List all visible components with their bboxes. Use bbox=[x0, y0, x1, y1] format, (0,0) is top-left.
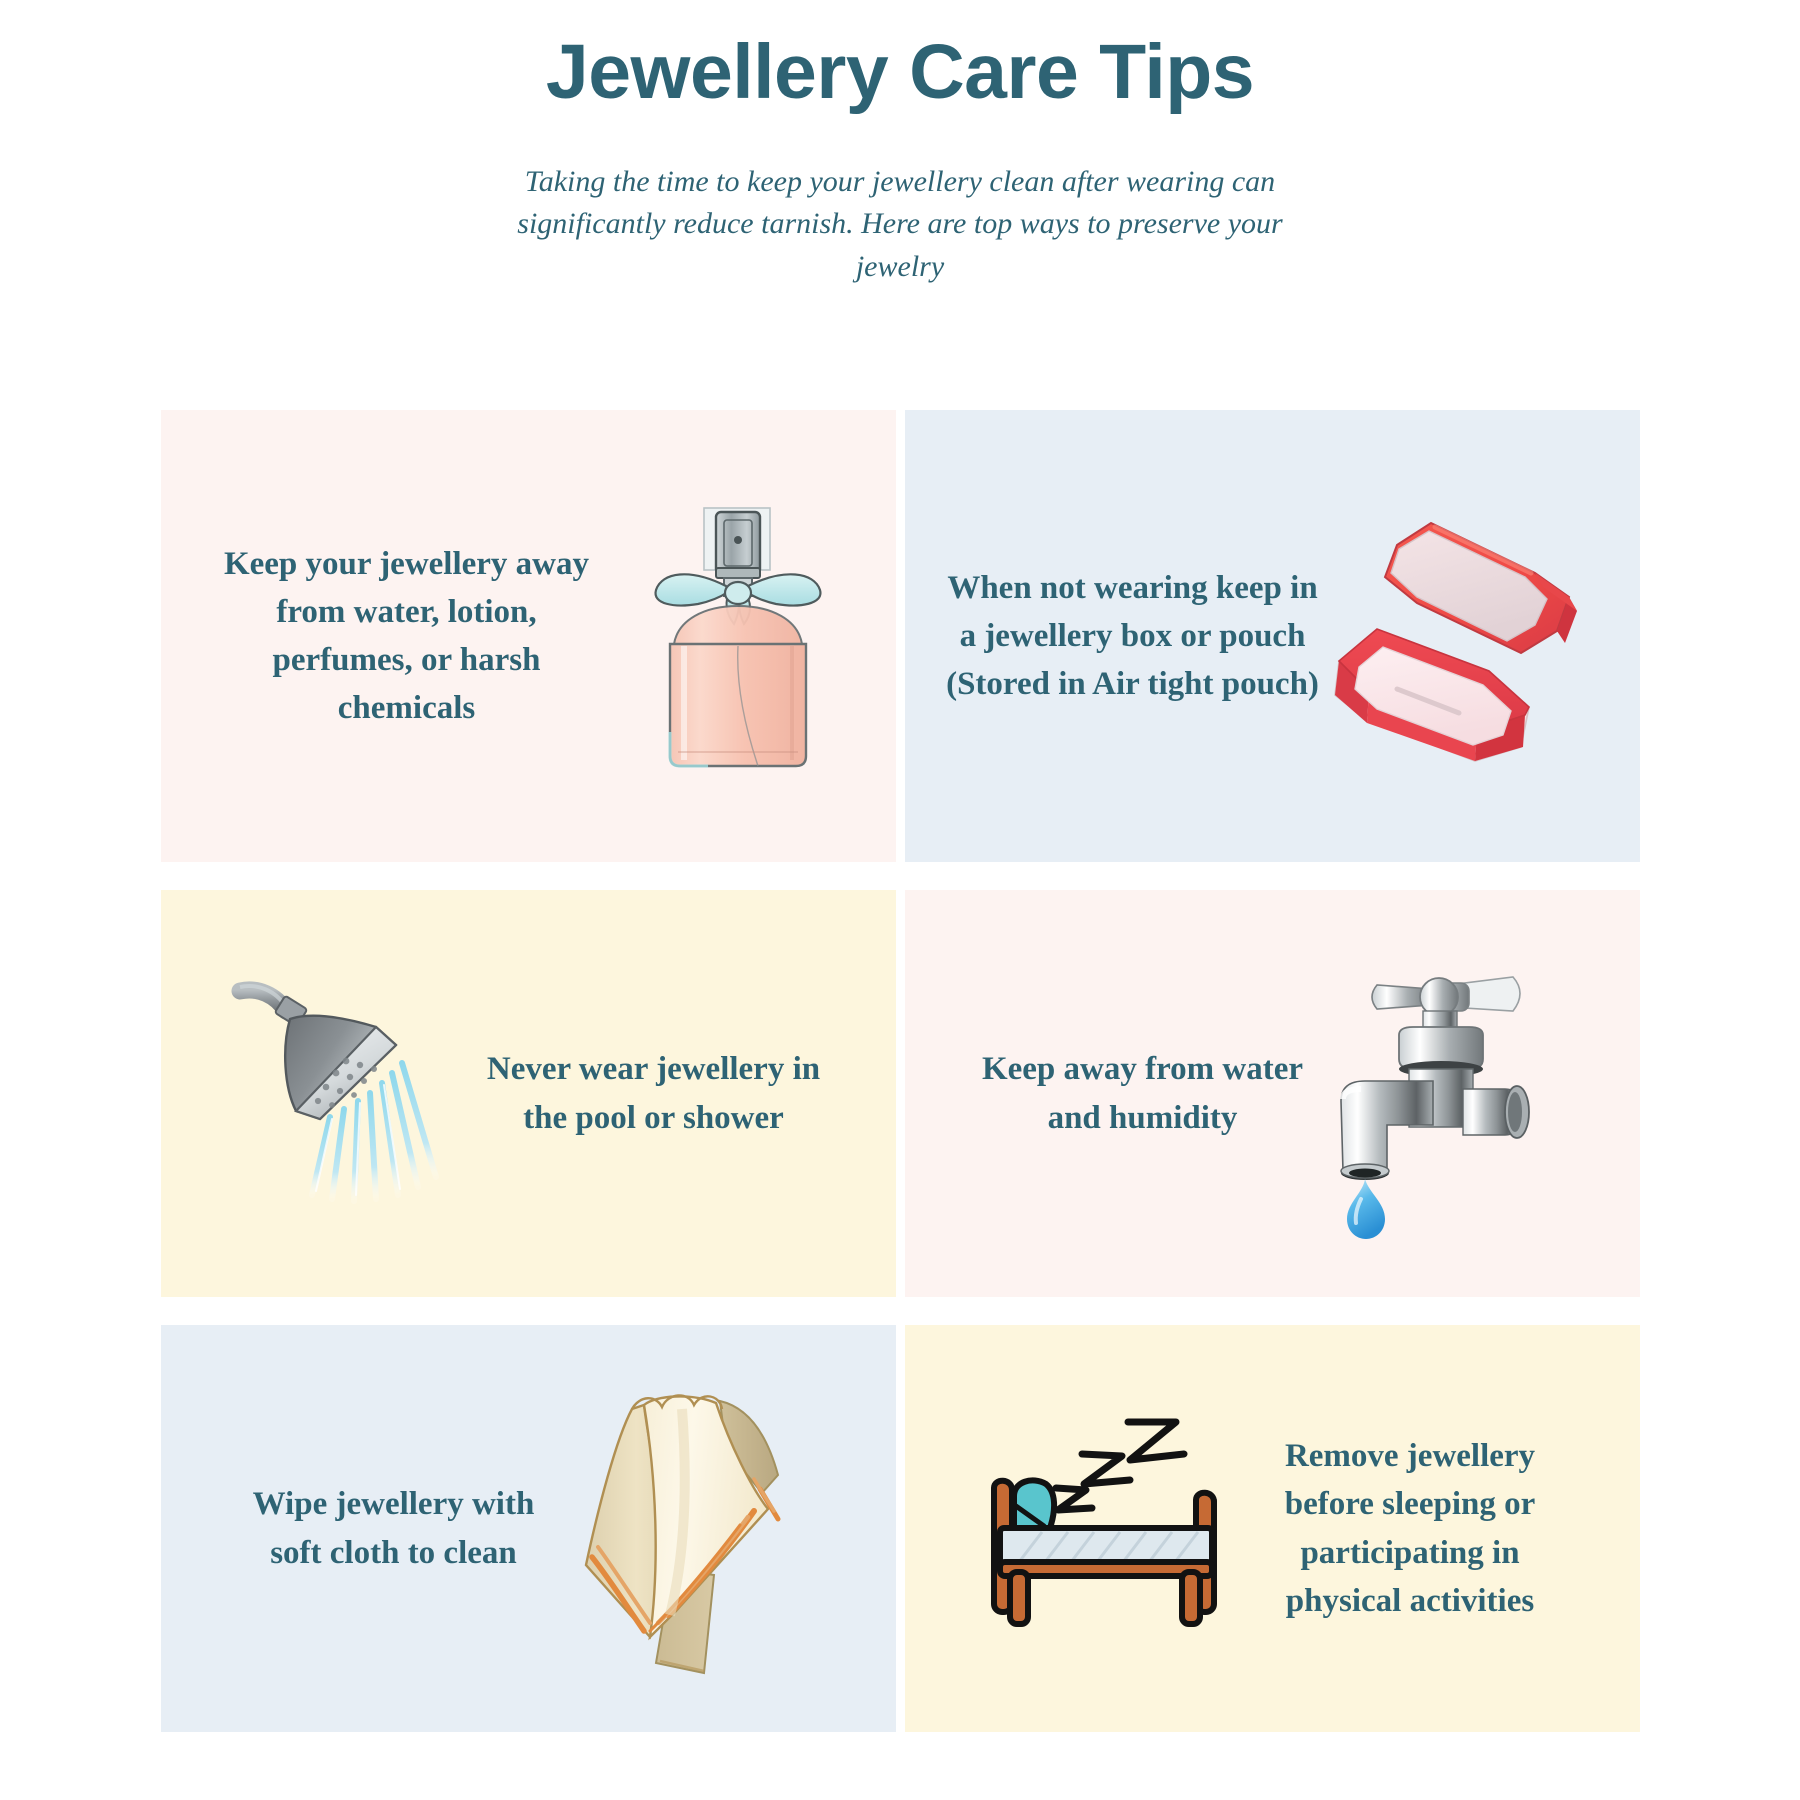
tip-card-3[interactable]: Never wear jewellery in the pool or show… bbox=[161, 890, 896, 1297]
shower-head-icon bbox=[219, 964, 479, 1224]
tip-card-6[interactable]: Remove jewellery before sleeping or part… bbox=[905, 1325, 1640, 1732]
tips-grid: Keep your jewellery away from water, lot… bbox=[161, 410, 1640, 1732]
tip-card-2[interactable]: When not wearing keep in a jewellery box… bbox=[905, 410, 1640, 862]
tip-card-4[interactable]: Keep away from water and humidity bbox=[905, 890, 1640, 1297]
ring-box-icon bbox=[1320, 506, 1610, 766]
tip-card-5-text: Wipe jewellery with soft cloth to clean bbox=[229, 1480, 559, 1576]
tip-card-4-text: Keep away from water and humidity bbox=[978, 1045, 1308, 1141]
page-header: Jewellery Care Tips Taking the time to k… bbox=[0, 0, 1800, 288]
tip-card-1[interactable]: Keep your jewellery away from water, lot… bbox=[161, 410, 896, 862]
bed-sleep-icon bbox=[965, 1409, 1245, 1649]
tip-card-5[interactable]: Wipe jewellery with soft cloth to clean bbox=[161, 1325, 896, 1732]
tip-card-1-text: Keep your jewellery away from water, lot… bbox=[207, 540, 607, 733]
infographic-page: Jewellery Care Tips Taking the time to k… bbox=[0, 0, 1800, 1800]
page-subtitle: Taking the time to keep your jewellery c… bbox=[505, 161, 1295, 289]
tip-card-6-text: Remove jewellery before sleeping or part… bbox=[1245, 1432, 1575, 1625]
tip-card-2-text: When not wearing keep in a jewellery box… bbox=[945, 564, 1320, 709]
perfume-bottle-icon bbox=[607, 491, 867, 781]
cloth-icon bbox=[559, 1379, 819, 1679]
tip-card-3-text: Never wear jewellery in the pool or show… bbox=[479, 1045, 829, 1141]
faucet-icon bbox=[1308, 949, 1598, 1239]
page-title: Jewellery Care Tips bbox=[0, 28, 1800, 117]
